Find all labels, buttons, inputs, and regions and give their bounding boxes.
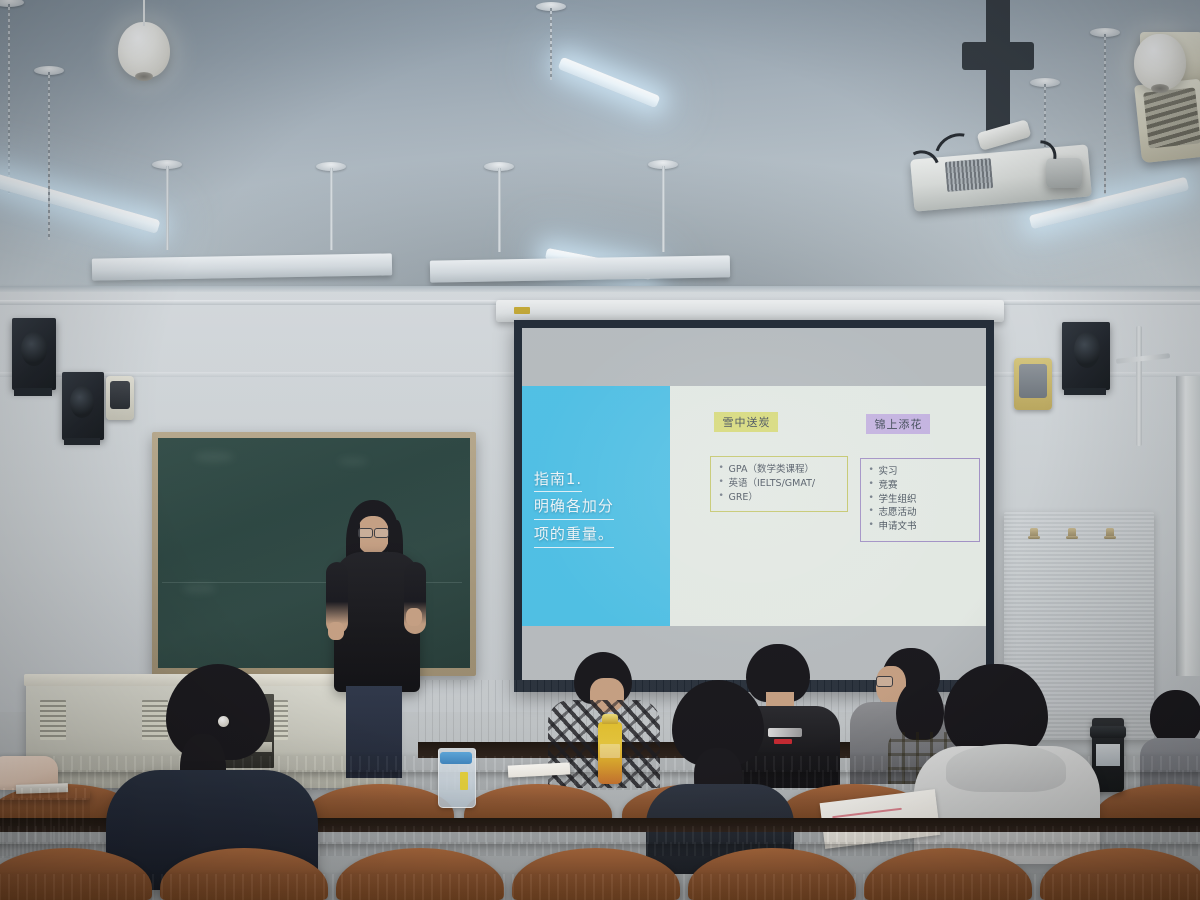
light-chain xyxy=(1104,34,1106,194)
slide-column-header-1: 雪中送炭 xyxy=(714,412,778,432)
speaker-bracket xyxy=(64,438,100,445)
screen-roller-housing xyxy=(496,300,1004,322)
list-item: 学生组织 xyxy=(867,493,971,507)
bottle-label xyxy=(600,744,620,758)
light-rod xyxy=(498,168,501,252)
slide-left-panel: 指南1. 明确各加分 项的重量。 xyxy=(522,386,670,626)
chalk-smudge xyxy=(194,452,234,462)
presentation-slide: 指南1. 明确各加分 项的重量。 雪中送炭 GPA（数学类课程） 英语（IELT… xyxy=(522,386,986,626)
coat-hook xyxy=(1030,528,1038,539)
list-item: 竞赛 xyxy=(867,479,971,493)
slide-right-panel: 雪中送炭 GPA（数学类课程） 英语（IELTS/GMAT/ GRE） 锦上添花… xyxy=(670,386,986,626)
chalk-smudge xyxy=(182,584,216,593)
student-hair xyxy=(944,664,1048,756)
list-item-continuation: GRE） xyxy=(717,491,839,505)
shirt-print-tag xyxy=(774,739,792,744)
wall-speaker-left-upper xyxy=(12,318,56,390)
speaker-cone xyxy=(70,386,94,418)
presenter-hand-left xyxy=(328,622,344,640)
chalk-smudge xyxy=(338,458,368,465)
shirt-print xyxy=(768,728,802,737)
slide-box-1: GPA（数学类课程） 英语（IELTS/GMAT/ GRE） xyxy=(710,456,848,512)
projector-mount-arm xyxy=(962,42,1034,70)
wall-conduit xyxy=(1136,326,1142,446)
slide-title-line-2: 明确各加分 xyxy=(534,495,614,520)
list-item: GPA（数学类课程） xyxy=(717,463,839,477)
slide-column-header-2: 锦上添花 xyxy=(866,414,930,434)
presenter-glasses xyxy=(358,528,373,538)
student-hair xyxy=(896,680,944,740)
light-rod xyxy=(662,166,665,252)
wall-speaker-left-lower xyxy=(62,372,104,440)
globe-pendant-lamp xyxy=(118,22,170,78)
door-frame xyxy=(1176,376,1200,676)
list-item: 实习 xyxy=(867,465,971,479)
cup-label xyxy=(460,772,468,790)
list-item: 申请文书 xyxy=(867,520,971,534)
speaker-bracket xyxy=(14,388,52,396)
coat-hook xyxy=(1068,528,1076,539)
slide-title-line-1: 指南1. xyxy=(534,468,582,493)
bottle-cap xyxy=(602,714,618,724)
slide-title-line-3: 项的重量。 xyxy=(534,523,614,548)
hair-tie xyxy=(218,716,229,727)
podium-vent xyxy=(142,700,168,740)
panel-inner xyxy=(1019,364,1046,397)
slide-title: 指南1. 明确各加分 项的重量。 xyxy=(534,468,614,551)
light-chain xyxy=(550,8,552,80)
speaker-cone xyxy=(21,332,47,366)
panel-inner xyxy=(110,381,130,409)
speaker-cone xyxy=(1074,332,1100,368)
slide-box-2: 实习 竞赛 学生组织 志愿活动 申请文书 xyxy=(860,458,980,542)
projection-letterbox-top xyxy=(522,328,986,386)
coat-hook xyxy=(1106,528,1114,539)
presenter-hand-right xyxy=(406,608,422,626)
globe-pendant-lamp xyxy=(1134,34,1186,90)
presenter-glasses xyxy=(374,528,389,538)
cup-lid xyxy=(440,752,472,764)
thermos-window xyxy=(1096,744,1120,766)
projection-screen: 指南1. 明确各加分 项的重量。 雪中送炭 GPA（数学类课程） 英语（IELT… xyxy=(522,328,986,680)
light-chain xyxy=(48,72,50,240)
slide-list-1: GPA（数学类课程） 英语（IELTS/GMAT/ GRE） xyxy=(717,463,839,504)
lamp-cord xyxy=(143,0,145,26)
air-conditioner-grill xyxy=(1143,87,1200,148)
list-item: 志愿活动 xyxy=(867,506,971,520)
wall-speaker-right xyxy=(1062,322,1110,390)
hoodie-hood xyxy=(946,744,1066,792)
speaker-bracket xyxy=(1064,388,1106,395)
light-rod xyxy=(166,166,169,250)
light-chain xyxy=(8,4,10,194)
light-rod xyxy=(330,168,333,250)
slide-list-2: 实习 竞赛 学生组织 志愿活动 申请文书 xyxy=(867,465,971,534)
blackboard xyxy=(158,438,470,668)
list-item: 英语（IELTS/GMAT/ xyxy=(717,477,839,491)
emergency-panel xyxy=(1014,358,1052,410)
podium-vent xyxy=(40,700,66,740)
wall-outlet-panel xyxy=(106,376,134,420)
housing-label xyxy=(514,307,530,314)
classroom-photo: 指南1. 明确各加分 项的重量。 雪中送炭 GPA（数学类课程） 英语（IELT… xyxy=(0,0,1200,900)
thermos-cap xyxy=(1090,726,1126,738)
student-glasses xyxy=(876,676,893,687)
desk-row-surface xyxy=(0,874,1200,900)
